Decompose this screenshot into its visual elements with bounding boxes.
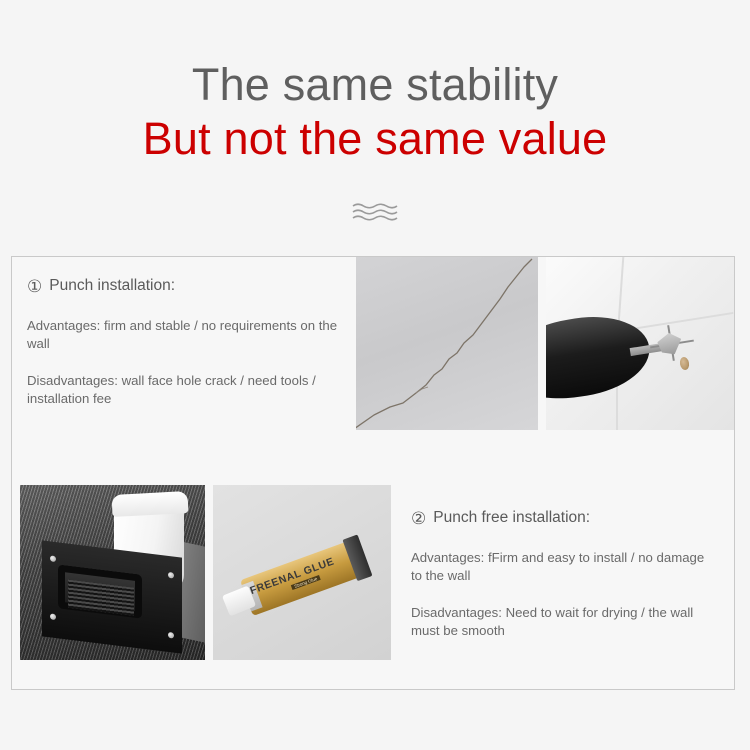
cracked-wall-photo [356, 257, 538, 430]
section-1-text: ① Punch installation: Advantages: firm a… [12, 257, 356, 469]
section-1-photos [356, 257, 734, 469]
ceramic-jar-lid [111, 491, 188, 517]
rack-screw [168, 632, 174, 639]
section-2-advantages: Advantages: fFirm and easy to install / … [411, 549, 711, 584]
section-1-disadvantages: Disadvantages: wall face hole crack / ne… [27, 372, 350, 407]
headline-block: The same stability But not the same valu… [0, 58, 750, 166]
rack-screw [50, 555, 56, 562]
section-punch-installation: ① Punch installation: Advantages: firm a… [12, 257, 734, 469]
rack-screw [168, 572, 174, 579]
headline-line-2: But not the same value [0, 112, 750, 166]
wave-divider [0, 202, 750, 222]
section-2-photos: FREENAL GLUE Strong Glue [12, 485, 391, 689]
section-2-title: Punch free installation: [433, 509, 590, 527]
glue-tube-photo: FREENAL GLUE Strong Glue [213, 485, 391, 660]
section-2-text: ② Punch free installation: Advantages: f… [391, 485, 721, 689]
rack-screw [50, 613, 56, 620]
comparison-panel: ① Punch installation: Advantages: firm a… [11, 256, 735, 690]
section-punch-free-installation: FREENAL GLUE Strong Glue ② Punch free in… [12, 485, 734, 689]
wave-divider-icon [352, 202, 398, 222]
section-1-title: Punch installation: [49, 277, 175, 295]
rack-frame [42, 540, 182, 653]
section-1-title-row: ① Punch installation: [27, 277, 350, 295]
wall-crack-icon [356, 257, 538, 430]
section-1-advantages: Advantages: firm and stable / no require… [27, 317, 350, 352]
drill-on-tile-photo [546, 257, 734, 430]
black-rack-photo [20, 485, 205, 660]
section-2-disadvantages: Disadvantages: Need to wait for drying /… [411, 604, 711, 639]
step-number-1-icon: ① [27, 278, 42, 295]
headline-line-1: The same stability [0, 58, 750, 112]
step-number-2-icon: ② [411, 510, 426, 527]
section-2-title-row: ② Punch free installation: [411, 509, 711, 527]
